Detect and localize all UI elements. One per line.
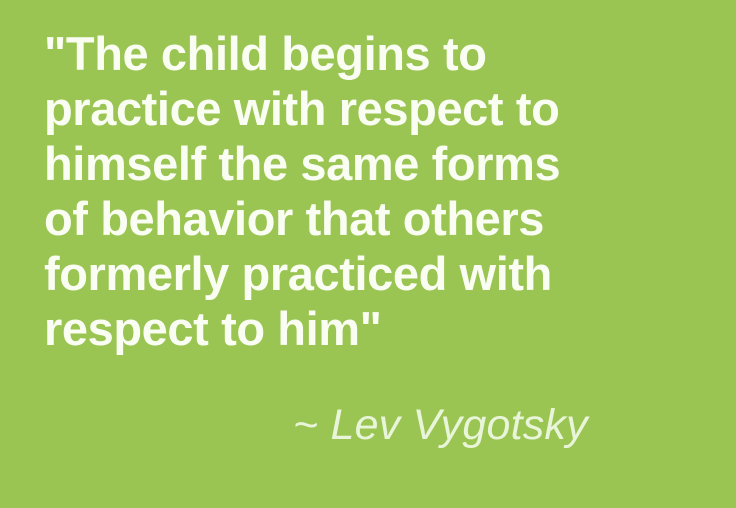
quote-line-3: himself the same forms xyxy=(44,136,684,191)
quote-line-1: "The child begins to xyxy=(44,26,684,81)
attribution-author: ~ Lev Vygotsky xyxy=(293,400,693,450)
attribution-block: ~ Lev Vygotsky xyxy=(293,400,693,450)
quote-line-4: of behavior that others xyxy=(44,191,684,246)
quote-line-5: formerly practiced with xyxy=(44,246,684,301)
quote-line-6: respect to him" xyxy=(44,301,684,356)
quote-card: "The child begins to practice with respe… xyxy=(0,0,736,508)
quote-text-block: "The child begins to practice with respe… xyxy=(44,26,684,356)
quote-line-2: practice with respect to xyxy=(44,81,684,136)
